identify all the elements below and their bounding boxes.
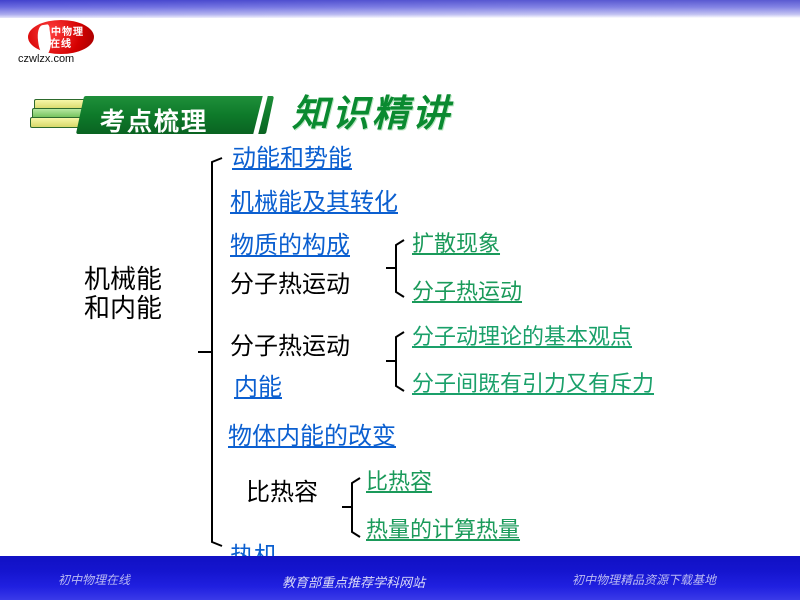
footer-right-text: 初中物理精品资源下载基地 (572, 571, 716, 588)
mindmap-node-wutineinenggaibian[interactable]: 物体内能的改变 (228, 424, 396, 450)
top-decorative-bar-gradient (0, 0, 800, 18)
logo-text-line2: 在线 (50, 35, 72, 50)
mindmap-node-fenzireyundong-2: 分子热运动 (230, 334, 350, 360)
footer-center-text: 教育部重点推荐学科网站 (282, 572, 425, 591)
mindmap: 机械能 和内能 动能和势能 机械能及其转化 物质的构成 分子热运动 分子热运动 … (0, 140, 800, 560)
mindmap-sub-bireorong[interactable]: 比热容 (366, 470, 432, 494)
section-banner: 考点梳理 (30, 96, 280, 136)
mindmap-root-line1: 机械能 (84, 266, 162, 295)
page-title: 知识精讲 (292, 83, 452, 137)
mindmap-node-neineng[interactable]: 内能 (234, 375, 282, 401)
mindmap-node-bireorong: 比热容 (246, 480, 318, 506)
mindmap-node-jixieneng[interactable]: 机械能及其转化 (230, 190, 398, 216)
mindmap-sub-fenzidonglilun[interactable]: 分子动理论的基本观点 (412, 325, 632, 349)
mindmap-node-fenzireyundong-1: 分子热运动 (230, 272, 350, 298)
site-logo: 初中物理 在线 czwlzx.com (18, 20, 104, 68)
mindmap-sub-reliangjisuan[interactable]: 热量的计算热量 (366, 518, 520, 542)
mindmap-node-dongneng[interactable]: 动能和势能 (232, 146, 352, 172)
mindmap-sub-fenzireyundong[interactable]: 分子热运动 (412, 280, 522, 304)
mindmap-node-wuzhigoucheng[interactable]: 物质的构成 (230, 233, 350, 259)
mindmap-root-line2: 和内能 (84, 295, 162, 324)
mindmap-root: 机械能 和内能 (84, 266, 162, 323)
footer-left-text: 初中物理在线 (58, 571, 130, 588)
mindmap-sub-kuosanxianxiang[interactable]: 扩散现象 (412, 232, 500, 256)
logo-url: czwlzx.com (18, 53, 74, 65)
mindmap-sub-fenzijianyinli[interactable]: 分子间既有引力又有斥力 (412, 372, 654, 396)
slide: 初中物理 在线 czwlzx.com 考点梳理 知识精讲 (0, 0, 800, 600)
banner-label: 考点梳理 (100, 102, 208, 138)
mindmap-connectors (0, 140, 800, 560)
top-decorative-bar (0, 0, 800, 18)
